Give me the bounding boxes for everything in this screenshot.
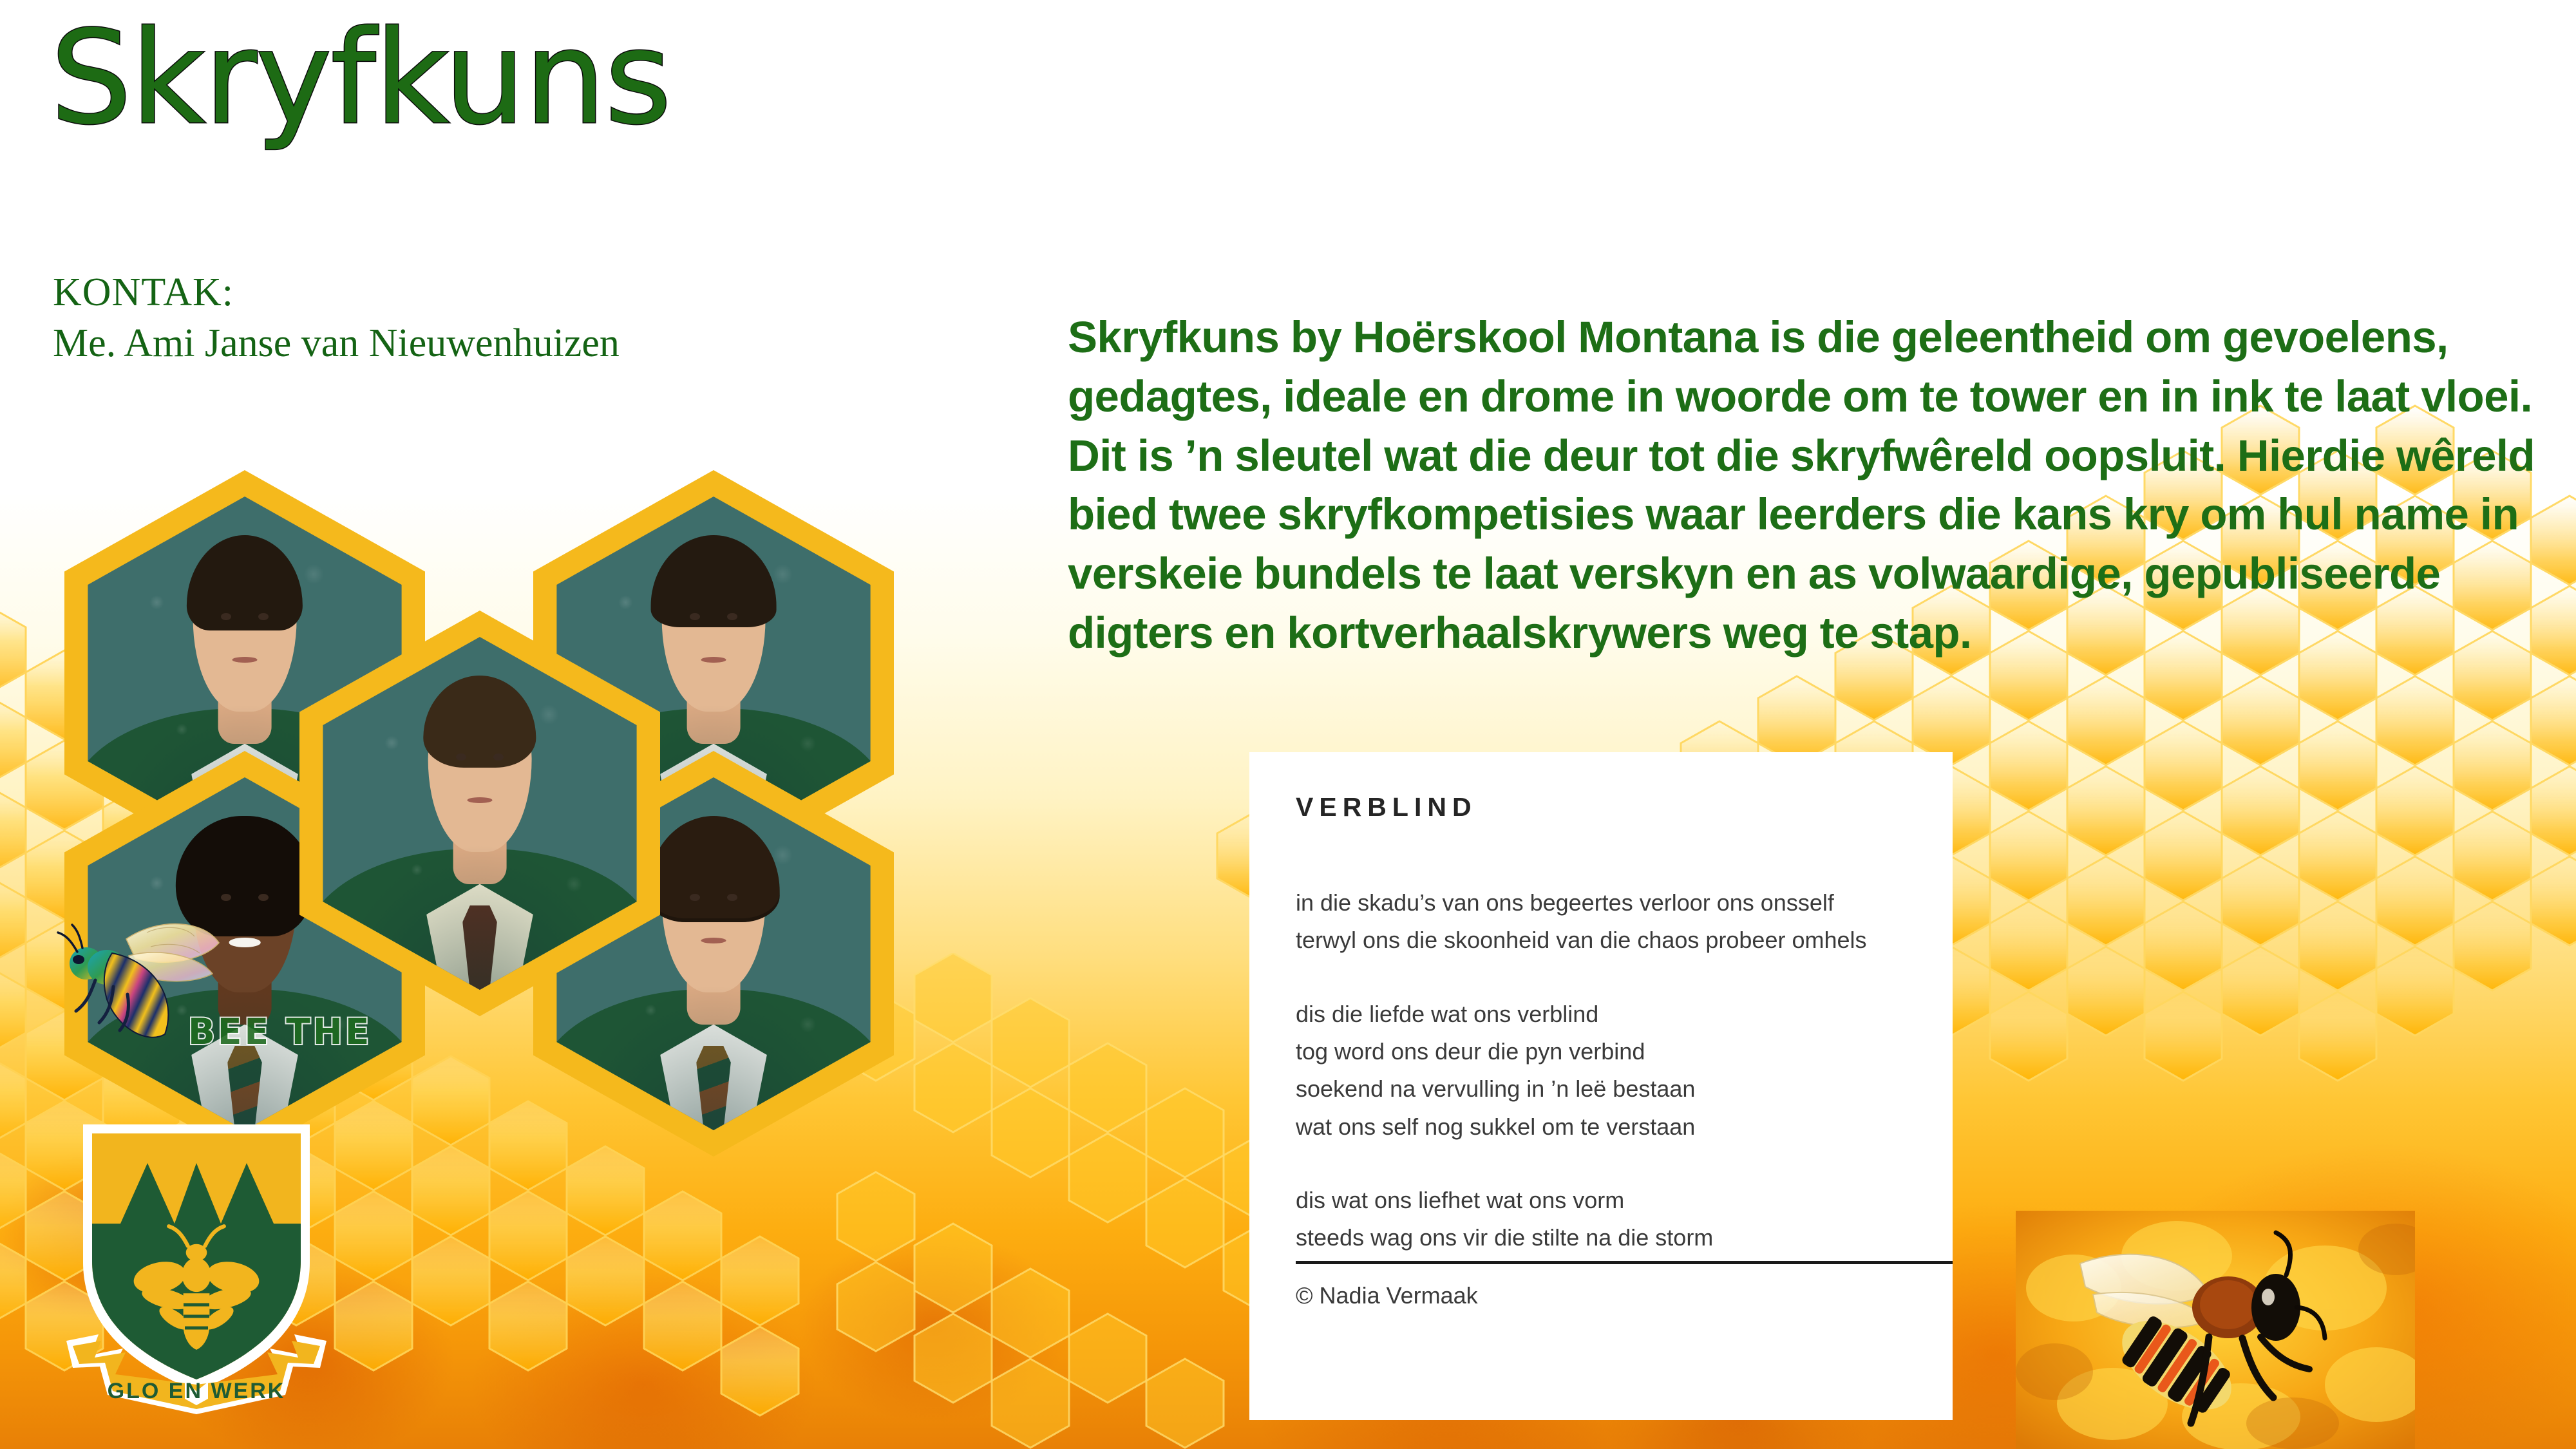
poem-credit: © Nadia Vermaak	[1296, 1282, 1953, 1309]
hex-photo-2	[299, 611, 660, 1016]
poem-line: wat ons self nog sukkel om te verstaan	[1296, 1108, 1953, 1146]
contact-name: Me. Ami Janse van Nieuwenhuizen	[53, 318, 620, 369]
slide-canvas: Skryfkuns KONTAK: Me. Ami Janse van Nieu…	[0, 0, 2576, 1449]
poem-line: dis die liefde wat ons verblind	[1296, 996, 1953, 1033]
poem-card: VERBLIND in die skadu’s van ons begeerte…	[1249, 752, 1953, 1420]
poem-line: soekend na vervulling in ’n leë bestaan	[1296, 1070, 1953, 1108]
poem-stanza-3: dis wat ons liefhet wat ons vorm steeds …	[1296, 1182, 1953, 1257]
poem-stanza-1: in die skadu’s van ons begeertes verloor…	[1296, 884, 1953, 960]
watercolor-bee-icon	[50, 908, 263, 1056]
poem-divider	[1296, 1261, 1953, 1264]
school-crest-logo: GLO EN WERK	[61, 1114, 332, 1430]
page-title: Skryfkuns	[50, 14, 670, 143]
poem-title: VERBLIND	[1296, 792, 1953, 822]
intro-paragraph: Skryfkuns by Hoërskool Montana is die ge…	[1068, 308, 2555, 663]
badge-motto: GLO EN WERK	[108, 1379, 286, 1403]
student-portrait-2	[323, 637, 636, 990]
poem-line: dis wat ons liefhet wat ons vorm	[1296, 1182, 1953, 1219]
poem-line: terwyl ons die skoonheid van die chaos p…	[1296, 922, 1953, 959]
contact-block: KONTAK: Me. Ami Janse van Nieuwenhuizen	[53, 267, 620, 370]
poem-line: in die skadu’s van ons begeertes verloor…	[1296, 884, 1953, 922]
contact-label: KONTAK:	[53, 267, 620, 318]
hex-frame	[299, 611, 660, 1016]
poem-stanza-2: dis die liefde wat ons verblind tog word…	[1296, 996, 1953, 1146]
hex-photo-inner	[323, 637, 636, 990]
poem-line: steeds wag ons vir die stilte na die sto…	[1296, 1219, 1953, 1256]
honey-bee-photo	[2016, 1211, 2415, 1449]
poem-line: tog word ons deur die pyn verbind	[1296, 1033, 1953, 1070]
